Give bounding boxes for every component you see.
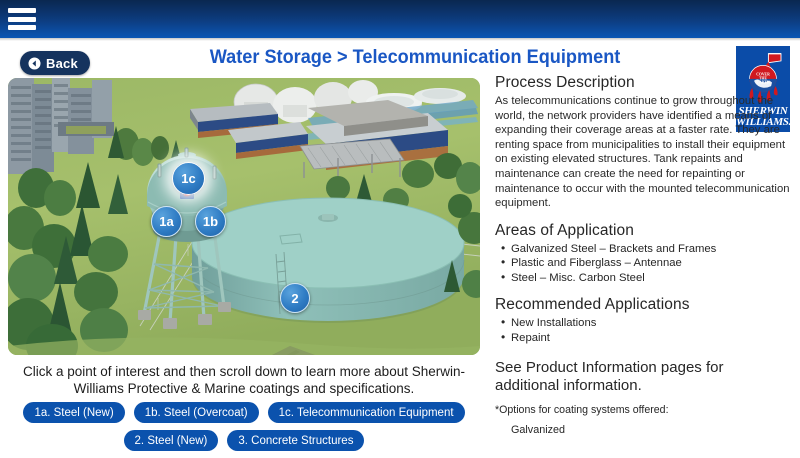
recommended-item: Repaint	[495, 331, 757, 346]
top-navigation-bar	[0, 0, 800, 38]
poi-button-1c[interactable]: 1c. Telecommunication Equipment	[268, 402, 465, 423]
areas-item: Galvanized Steel – Brackets and Frames	[495, 242, 757, 257]
arrow-left-circle-icon	[28, 57, 41, 70]
areas-item: Steel – Misc. Carbon Steel	[495, 271, 757, 286]
poi-marker-1c[interactable]: 1c	[172, 162, 205, 195]
ground-storage-tank	[192, 198, 464, 323]
poi-button-1b[interactable]: 1b. Steel (Overcoat)	[134, 402, 259, 423]
page-title: Water Storage > Telecommunication Equipm…	[141, 46, 690, 69]
poi-button-row-1: 1a. Steel (New) 1b. Steel (Overcoat) 1c.…	[8, 402, 480, 423]
coating-option-item: Galvanized	[495, 423, 757, 437]
topbar-shadow	[0, 38, 800, 41]
see-product-information-note: See Product Information pages for additi…	[495, 359, 767, 395]
scene-artwork	[8, 78, 480, 355]
areas-of-application-list: Galvanized Steel – Brackets and Frames P…	[495, 242, 757, 286]
hamburger-bar-2	[8, 17, 36, 22]
areas-item: Plastic and Fiberglass – Antennae	[495, 256, 757, 271]
right-content-column: Process Description As telecommunication…	[495, 74, 757, 437]
back-button[interactable]: Back	[20, 51, 90, 75]
scene-caption: Click a point of interest and then scrol…	[8, 363, 480, 397]
process-description-heading: Process Description	[495, 74, 757, 92]
hamburger-bar-3	[8, 25, 36, 30]
poi-button-2[interactable]: 2. Steel (New)	[124, 430, 219, 451]
hamburger-bar-1	[8, 8, 36, 13]
poi-button-row-2: 2. Steel (New) 3. Concrete Structures	[8, 430, 480, 451]
recommended-applications-list: New Installations Repaint	[495, 316, 757, 345]
poi-button-group: 1a. Steel (New) 1b. Steel (Overcoat) 1c.…	[8, 402, 480, 458]
process-description-body: As telecommunications continue to grow t…	[495, 94, 795, 211]
poi-button-1a[interactable]: 1a. Steel (New)	[23, 402, 124, 423]
water-storage-scene-image[interactable]: 1c 1a 1b 2 3	[8, 78, 480, 355]
poi-marker-1a[interactable]: 1a	[151, 206, 182, 237]
recommended-applications-heading: Recommended Applications	[495, 296, 757, 314]
recommended-item: New Installations	[495, 316, 757, 331]
areas-of-application-heading: Areas of Application	[495, 222, 757, 240]
hamburger-menu-icon[interactable]	[8, 6, 36, 32]
coating-options-note: *Options for coating systems offered:	[495, 403, 757, 417]
poi-marker-1b[interactable]: 1b	[195, 206, 226, 237]
svg-text:EARTH: EARTH	[756, 81, 769, 85]
poi-button-3[interactable]: 3. Concrete Structures	[227, 430, 364, 451]
back-button-label: Back	[46, 57, 78, 70]
poi-marker-2[interactable]: 2	[280, 283, 310, 313]
